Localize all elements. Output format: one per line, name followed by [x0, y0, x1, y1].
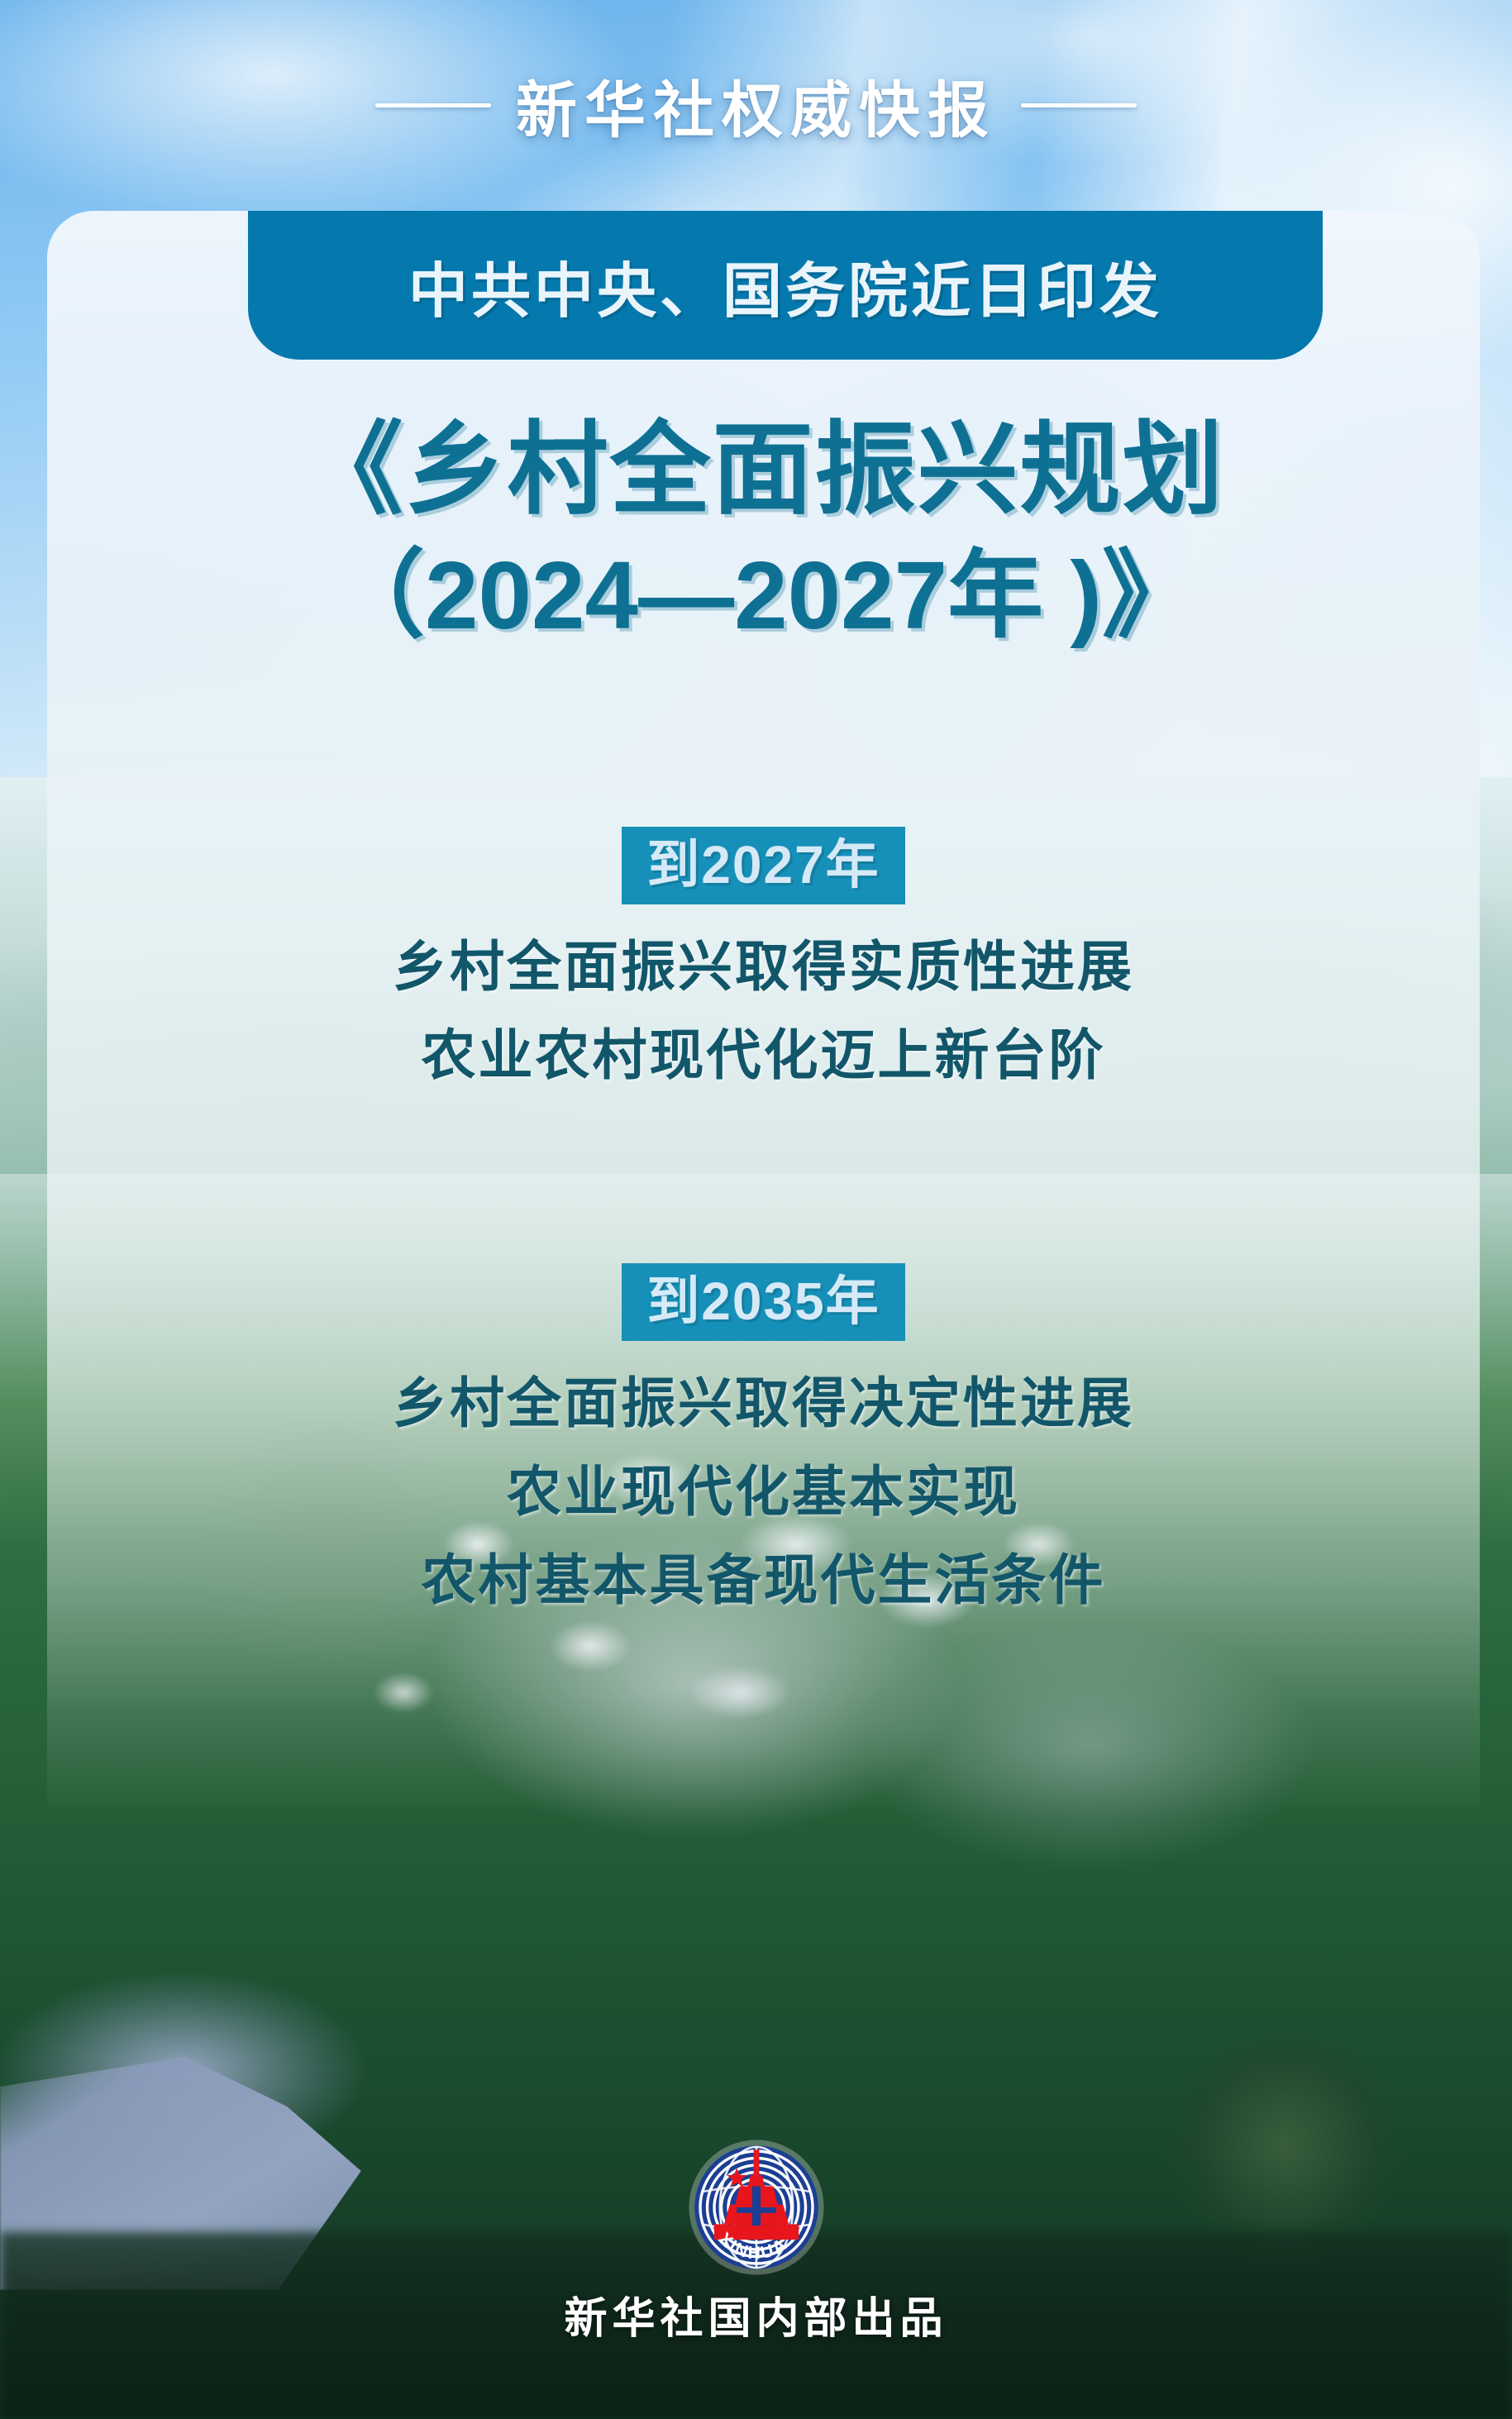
goal-line: 农业现代化基本实现 — [47, 1449, 1480, 1538]
goal-line: 乡村全面振兴取得实质性进展 — [47, 924, 1480, 1013]
goal-line: 农业农村现代化迈上新台阶 — [47, 1013, 1480, 1101]
xinhua-logo-icon: XINHUA — [686, 2137, 827, 2278]
page-title: 《乡村全面振兴规划 （2024—2027年 )》 — [47, 405, 1480, 657]
page-title-line-2: （2024—2027年 )》 — [47, 534, 1480, 656]
header-title: 新华社权威快报 — [516, 61, 996, 150]
issuer-banner: 中共中央、国务院近日印发 — [248, 211, 1323, 360]
section-badge-2035-label: 到2035年 — [646, 1275, 880, 1328]
goal-section-2027: 到2027年 乡村全面振兴取得实质性进展 农业农村现代化迈上新台阶 — [47, 827, 1480, 1101]
section-badge-2027-label: 到2027年 — [646, 838, 880, 891]
issuer-banner-text: 中共中央、国务院近日印发 — [408, 242, 1162, 329]
footer: 新华社国内部出品 — [0, 2283, 1512, 2345]
footer-credit-text: 新华社国内部出品 — [0, 2283, 1512, 2345]
header-rule-left-icon — [375, 103, 491, 107]
section-badge-2035: 到2035年 — [622, 1263, 904, 1341]
goal-line: 农村基本具备现代生活条件 — [47, 1538, 1480, 1626]
goal-section-2035: 到2035年 乡村全面振兴取得决定性进展 农业现代化基本实现 农村基本具备现代生… — [47, 1263, 1480, 1626]
page-title-line-1: 《乡村全面振兴规划 — [47, 405, 1480, 534]
goal-line: 乡村全面振兴取得决定性进展 — [47, 1361, 1480, 1449]
header-rule-right-icon — [1021, 103, 1137, 107]
section-badge-2027: 到2027年 — [622, 827, 904, 904]
page-header: 新华社权威快报 — [0, 0, 1512, 211]
